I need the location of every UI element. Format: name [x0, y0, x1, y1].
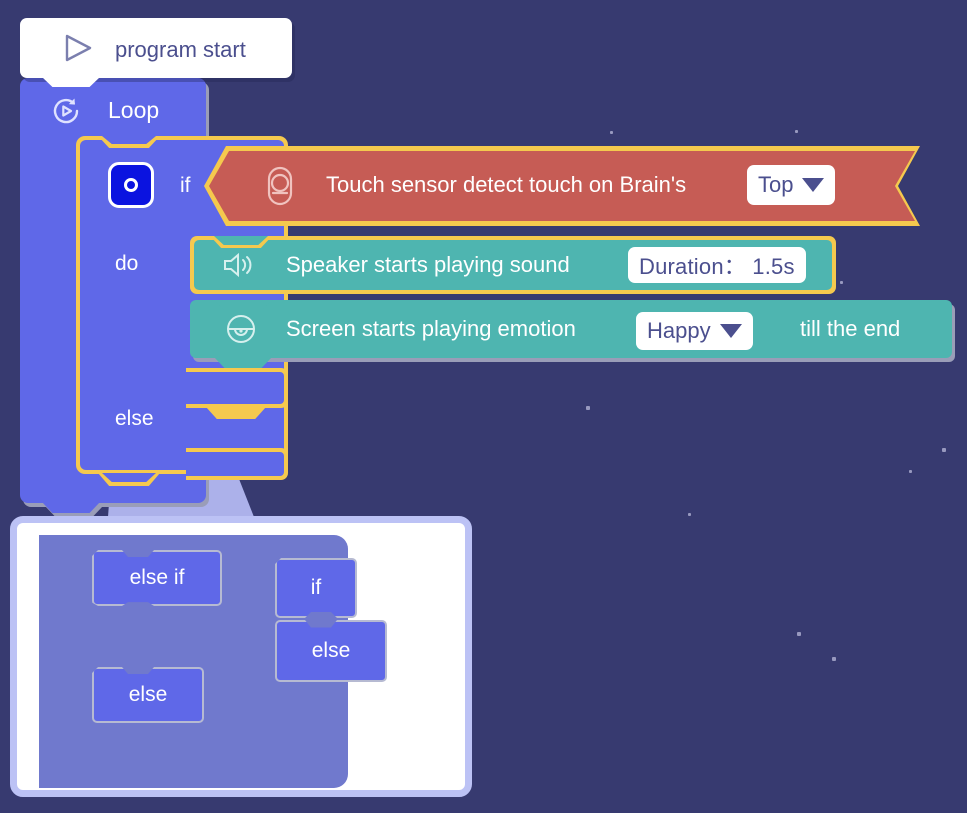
screen-trailing-text: till the end: [800, 318, 900, 340]
touch-sensor-condition-block[interactable]: Touch sensor detect touch on Brain's Top: [204, 146, 920, 226]
loop-label: Loop: [108, 99, 159, 122]
background-star: [832, 657, 836, 661]
background-star: [909, 470, 912, 473]
else-if-option[interactable]: else if: [92, 550, 222, 606]
toggle-ring: [124, 178, 138, 192]
expand-circle-icon[interactable]: [108, 162, 154, 208]
brain-side-value: Top: [758, 172, 793, 198]
else-options-popup: [10, 516, 472, 797]
else-preview-label: else: [312, 639, 351, 663]
background-star: [688, 513, 691, 516]
touch-sensor-icon: [266, 166, 294, 206]
else-preview[interactable]: else: [275, 620, 387, 682]
condition-text: Touch sensor detect touch on Brain's: [326, 174, 686, 196]
else-if-option-label: else if: [130, 566, 185, 590]
background-star: [610, 131, 613, 134]
speaker-text: Speaker starts playing sound: [286, 254, 570, 276]
program-start-label: program start: [115, 37, 246, 63]
play-triangle-icon: [62, 33, 94, 63]
chevron-down-icon: [720, 324, 742, 338]
background-star: [797, 632, 801, 636]
screen-play-emotion-block[interactable]: Screen starts playing emotion Happy till…: [190, 300, 952, 358]
arm-face: [186, 452, 284, 476]
block-canvas: Loop if do else program start: [0, 0, 967, 813]
background-star: [586, 406, 590, 410]
if-preview[interactable]: if: [275, 558, 357, 618]
do-label: do: [115, 253, 138, 274]
duration-value: Duration： 1.5s: [639, 249, 795, 281]
background-star: [840, 281, 843, 284]
background-star: [795, 130, 798, 133]
chevron-down-icon: [802, 178, 824, 192]
else-option[interactable]: else: [92, 667, 204, 723]
emotion-value: Happy: [647, 318, 711, 344]
if-do-slot-arm: [186, 368, 288, 408]
loop-refresh-icon: [50, 95, 82, 127]
else-label: else: [115, 408, 154, 429]
else-option-label: else: [129, 683, 168, 707]
emotion-dropdown[interactable]: Happy: [636, 312, 753, 350]
if-else-slot-arm: [186, 448, 288, 480]
background-star: [942, 448, 946, 452]
brain-side-dropdown[interactable]: Top: [747, 165, 835, 205]
emotion-face-icon: [226, 314, 256, 344]
duration-field[interactable]: Duration： 1.5s: [628, 247, 806, 283]
arm-face: [186, 372, 284, 404]
if-preview-label: if: [311, 576, 322, 600]
speaker-play-sound-block[interactable]: Speaker starts playing sound Duration： 1…: [190, 236, 836, 294]
speaker-icon: [222, 251, 256, 279]
screen-text: Screen starts playing emotion: [286, 318, 576, 340]
program-start-block[interactable]: program start: [20, 18, 292, 78]
if-label: if: [180, 175, 191, 196]
